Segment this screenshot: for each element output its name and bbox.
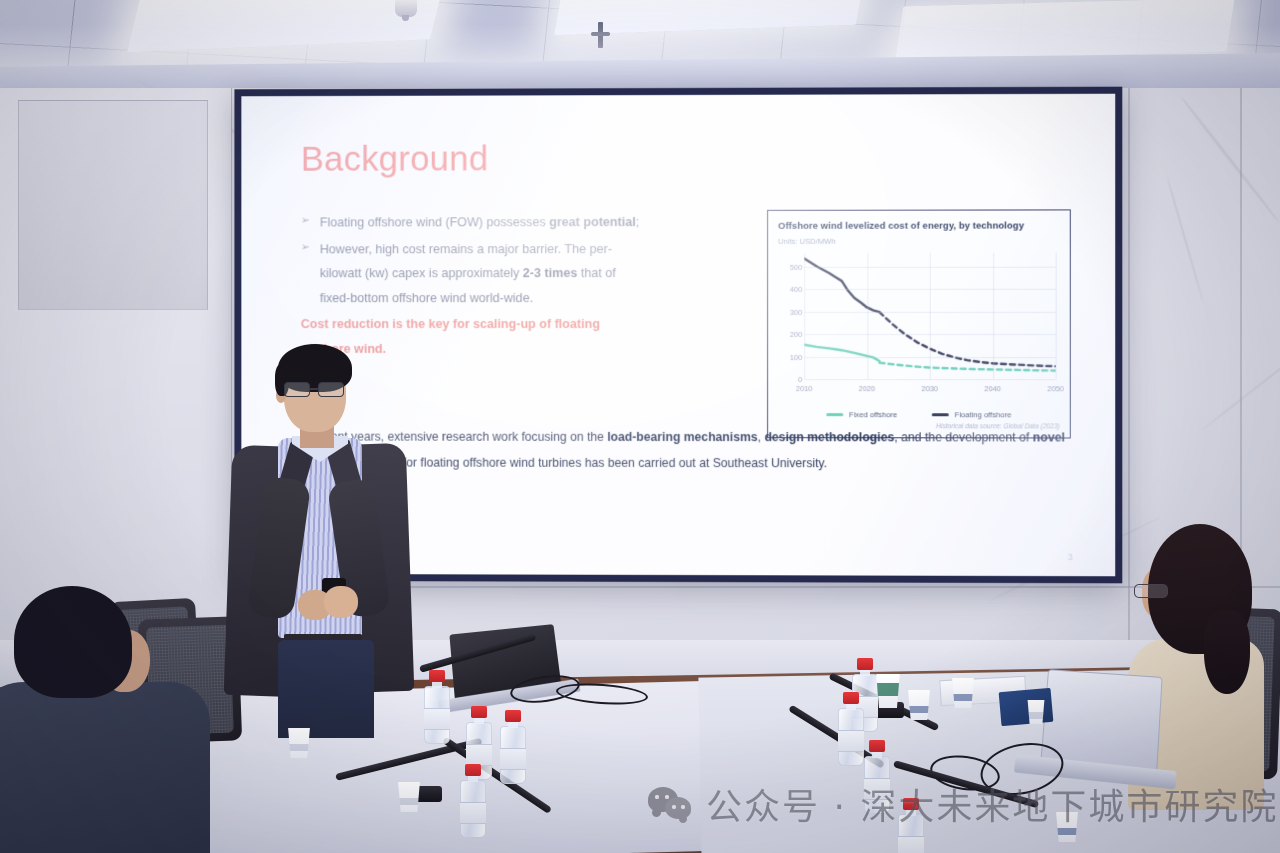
chart-gridline	[930, 253, 931, 379]
chart-gridline	[993, 253, 994, 379]
attendee-left-hair	[14, 586, 132, 698]
water-bottle	[864, 740, 890, 814]
chart-y-tick-label: 300	[778, 307, 802, 316]
chart-series-forecast	[879, 363, 1055, 371]
chart-gridline	[804, 379, 1055, 380]
presenter-standing	[212, 338, 422, 738]
legend-swatch-floating	[931, 413, 948, 416]
chart-x-tick-label: 2040	[984, 384, 1001, 393]
glasses-icon	[1134, 584, 1168, 598]
ceiling	[0, 0, 1280, 96]
levelized-cost-chart: Offshore wind levelized cost of energy, …	[767, 209, 1071, 438]
bullet-text: However, high cost remains a major barri…	[320, 237, 647, 311]
chart-axes: 010020030040050020102020203020402050	[804, 253, 1055, 380]
chart-title: Offshore wind levelized cost of energy, …	[778, 219, 1060, 230]
legend-label-fixed: Fixed offshore	[849, 410, 897, 419]
bullet-item: ➢ However, high cost remains a major bar…	[301, 237, 647, 311]
chart-plot-area: 010020030040050020102020203020402050	[778, 249, 1060, 396]
wall-roller-shade	[18, 100, 208, 310]
chart-gridline	[867, 253, 868, 379]
slide-page-number: 3	[1068, 552, 1073, 562]
legend-item-fixed-offshore: Fixed offshore	[826, 410, 897, 419]
water-bottle	[500, 710, 526, 784]
conference-room-photo: Background ➢ Floating offshore wind (FOW…	[0, 0, 1280, 853]
chart-y-tick-label: 100	[778, 352, 802, 361]
water-bottle	[424, 670, 450, 744]
presenter-trousers	[278, 640, 374, 738]
bullet-text: Floating offshore wind (FOW) possesses g…	[320, 210, 639, 235]
chart-x-tick-label: 2020	[859, 384, 876, 393]
water-bottle	[838, 692, 864, 766]
bullet-marker-icon: ➢	[301, 211, 310, 235]
legend-item-floating-offshore: Floating offshore	[931, 410, 1011, 419]
legend-swatch-fixed	[826, 413, 843, 416]
chart-y-tick-label: 200	[778, 329, 802, 338]
attendee-left-torso	[0, 682, 210, 853]
chart-units-label: Units: USD/MWh	[778, 237, 1060, 246]
chart-series-historical	[804, 345, 879, 361]
slide-title: Background	[301, 140, 1071, 177]
chart-gridline	[804, 253, 805, 379]
bullet-marker-icon: ➢	[301, 237, 310, 310]
presenter-hand-right	[324, 586, 358, 618]
bullet-item: ➢ Floating offshore wind (FOW) possesses…	[301, 210, 647, 235]
chart-x-tick-label: 2010	[796, 384, 813, 393]
chart-gridline	[1056, 253, 1057, 380]
chart-x-tick-label: 2050	[1047, 384, 1064, 393]
chart-y-tick-label: 400	[778, 284, 802, 293]
water-bottle	[898, 798, 924, 853]
chart-legend: Fixed offshore Floating offshore	[778, 410, 1060, 419]
water-bottle	[460, 764, 486, 838]
attendee-left	[0, 586, 236, 853]
chart-container: Offshore wind levelized cost of energy, …	[665, 205, 1071, 438]
chart-y-tick-label: 0	[778, 375, 802, 384]
glasses-icon	[282, 382, 348, 398]
legend-label-floating: Floating offshore	[955, 410, 1012, 419]
notebook	[999, 688, 1054, 726]
sprinkler-icon	[395, 0, 417, 17]
chart-series-forecast	[879, 312, 1055, 366]
chart-y-tick-label: 500	[778, 262, 802, 271]
chart-x-tick-label: 2030	[921, 384, 938, 393]
